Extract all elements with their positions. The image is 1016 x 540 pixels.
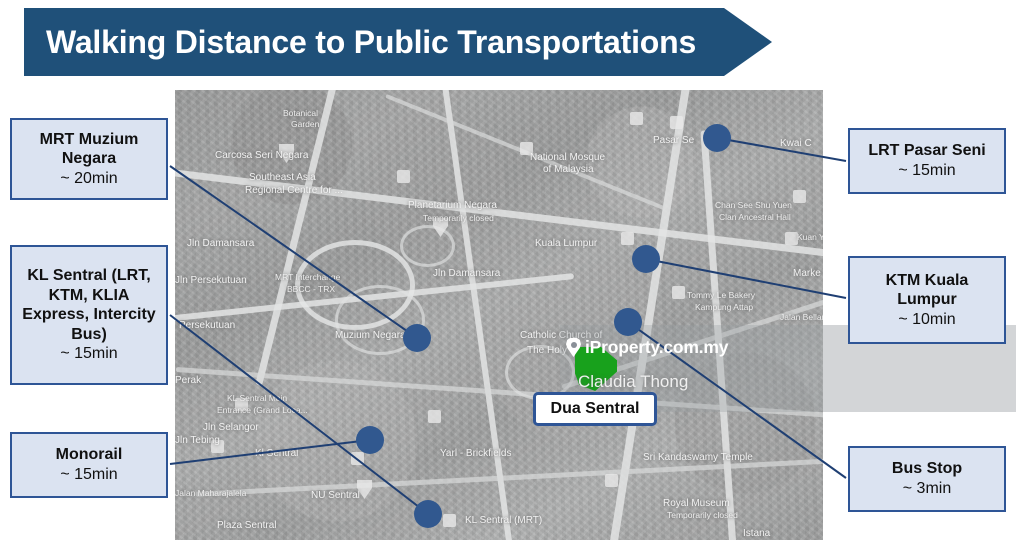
callout-title: LRT Pasar Seni (856, 141, 998, 161)
callout-walk-time: ~ 15min (18, 344, 160, 364)
iproperty-watermark: iProperty.com.my (566, 337, 728, 358)
map-poi-icon (630, 112, 643, 125)
callout-title: KTM Kuala Lumpur (856, 271, 998, 310)
map-poi-icon (397, 170, 410, 183)
property-marker-label: Dua Sentral (551, 400, 640, 418)
ktm-kuala-lumpur-dot[interactable] (632, 245, 660, 273)
callout-monorail[interactable]: Monorail~ 15min (10, 432, 168, 498)
map-poi-icon (443, 514, 456, 527)
callout-walk-time: ~ 15min (18, 465, 160, 485)
bus-stop-dot[interactable] (614, 308, 642, 336)
callout-mrt-muzium-negara[interactable]: MRT Muzium Negara~ 20min (10, 118, 168, 200)
property-marker-callout[interactable]: Dua Sentral (533, 392, 657, 426)
map-poi-icon (670, 116, 683, 129)
agent-name: Claudia Thong (578, 372, 688, 392)
callout-title: Monorail (18, 445, 160, 465)
map-poi-icon (621, 232, 634, 245)
page-title-banner: Walking Distance to Public Transportatio… (24, 8, 772, 76)
callout-title: MRT Muzium Negara (18, 130, 160, 169)
map-poi-icon (672, 286, 685, 299)
map-roundabout (400, 225, 455, 267)
map-poi-icon (520, 142, 533, 155)
callout-walk-time: ~ 20min (18, 169, 160, 189)
location-pin-icon (566, 338, 581, 357)
callout-walk-time: ~ 15min (856, 161, 998, 181)
map-poi-icon (793, 190, 806, 203)
page-title: Walking Distance to Public Transportatio… (24, 24, 696, 61)
map-poi-icon (235, 398, 248, 411)
callout-walk-time: ~ 3min (856, 479, 998, 499)
map-poi-icon (428, 410, 441, 423)
slide-root: Walking Distance to Public Transportatio… (0, 0, 1016, 540)
map-container[interactable]: BotanicalGardenCarcosa Seri NegaraSouthe… (175, 90, 823, 540)
callout-lrt-pasar-seni[interactable]: LRT Pasar Seni~ 15min (848, 128, 1006, 194)
lrt-pasar-seni-dot[interactable] (703, 124, 731, 152)
map-poi-icon (785, 232, 798, 245)
callout-ktm-kuala-lumpur[interactable]: KTM Kuala Lumpur~ 10min (848, 256, 1006, 344)
kl-sentral-dot[interactable] (414, 500, 442, 528)
callout-title: KL Sentral (LRT, KTM, KLIA Express, Inte… (18, 266, 160, 344)
callout-bus-stop[interactable]: Bus Stop~ 3min (848, 446, 1006, 512)
map-poi-icon (605, 474, 618, 487)
iproperty-brand-text: iProperty.com.my (585, 337, 728, 358)
callout-walk-time: ~ 10min (856, 310, 998, 330)
mrt-muzium-negara-dot[interactable] (403, 324, 431, 352)
map-poi-icon (211, 440, 224, 453)
callout-kl-sentral[interactable]: KL Sentral (LRT, KTM, KLIA Express, Inte… (10, 245, 168, 385)
callout-title: Bus Stop (856, 459, 998, 479)
monorail-dot[interactable] (356, 426, 384, 454)
map-poi-icon (351, 452, 364, 465)
